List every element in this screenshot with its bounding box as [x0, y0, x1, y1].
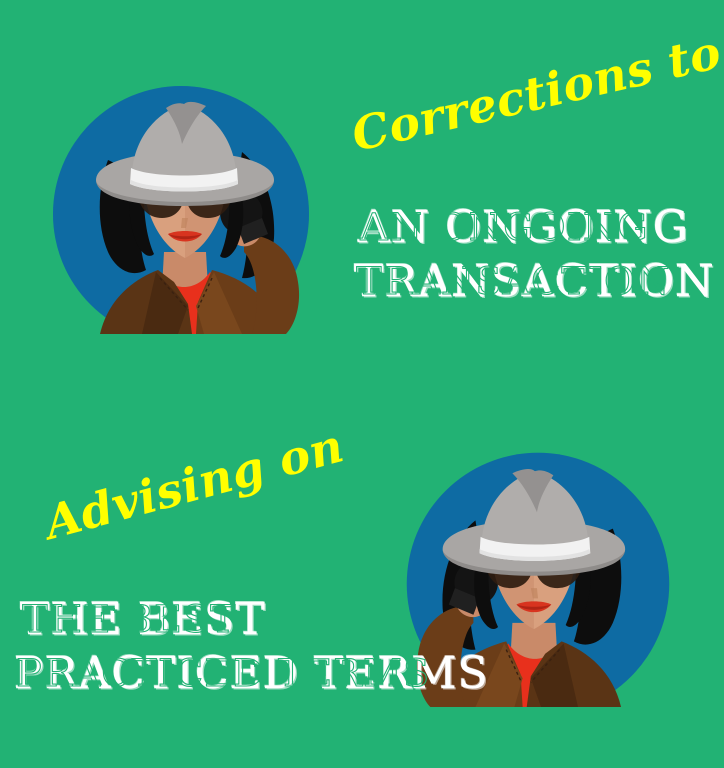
bottom-headline-line-2: PRACTICED TERMSPRACTICED TERMS: [14, 652, 489, 696]
headline-inline-engraving: AN ONGOING: [360, 209, 649, 247]
poster-canvas: Corrections to AN ONGOINGAN ONGOING TRAN…: [0, 0, 724, 768]
headline-inline-engraving: THE BEST: [22, 601, 236, 639]
detective-illustration: [46, 56, 316, 334]
headline-inline-engraving: PRACTICED TERMS: [16, 655, 430, 693]
top-script-text: Corrections to: [348, 28, 724, 158]
bottom-headline-line-1: THE BESTTHE BEST: [20, 598, 266, 642]
detective-avatar-top: [46, 56, 316, 334]
bottom-script-text: Advising on: [40, 422, 348, 546]
headline-inline-engraving: TRANSACTION: [356, 263, 670, 301]
top-headline-line-2: TRANSACTIONTRANSACTION: [354, 260, 715, 304]
top-headline-line-1: AN ONGOINGAN ONGOING: [358, 206, 689, 250]
